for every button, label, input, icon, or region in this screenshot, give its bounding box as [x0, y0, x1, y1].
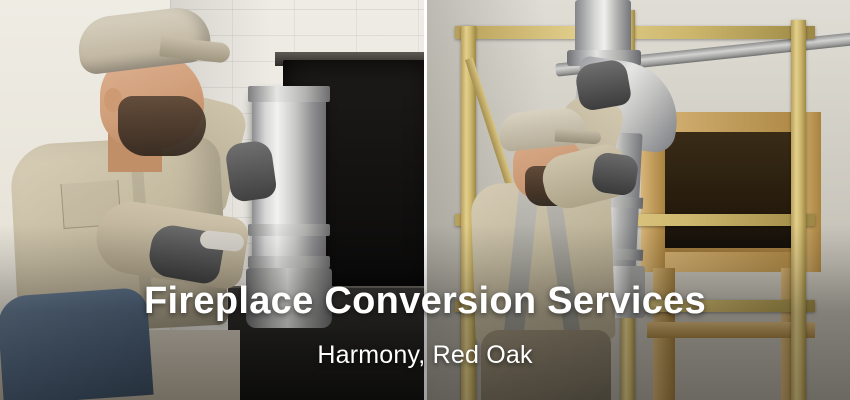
flue-pipe-collar-top	[248, 86, 330, 102]
service-location: Harmony, Red Oak	[0, 341, 850, 370]
banner-text-block: Fireplace Conversion Services Harmony, R…	[0, 281, 850, 370]
technician-beard	[118, 96, 206, 156]
flue-pipe-band-middle	[248, 224, 330, 236]
fireplace-services-banner: Fireplace Conversion Services Harmony, R…	[0, 0, 850, 400]
flue-pipe-band-lower	[248, 256, 330, 268]
page-title: Fireplace Conversion Services	[0, 281, 850, 323]
chimney-pipe-top	[575, 0, 631, 56]
chimney-chase-opening	[665, 130, 795, 248]
scaffold-work-glove-lower	[590, 151, 639, 197]
scaffold-rail-top	[455, 26, 815, 39]
